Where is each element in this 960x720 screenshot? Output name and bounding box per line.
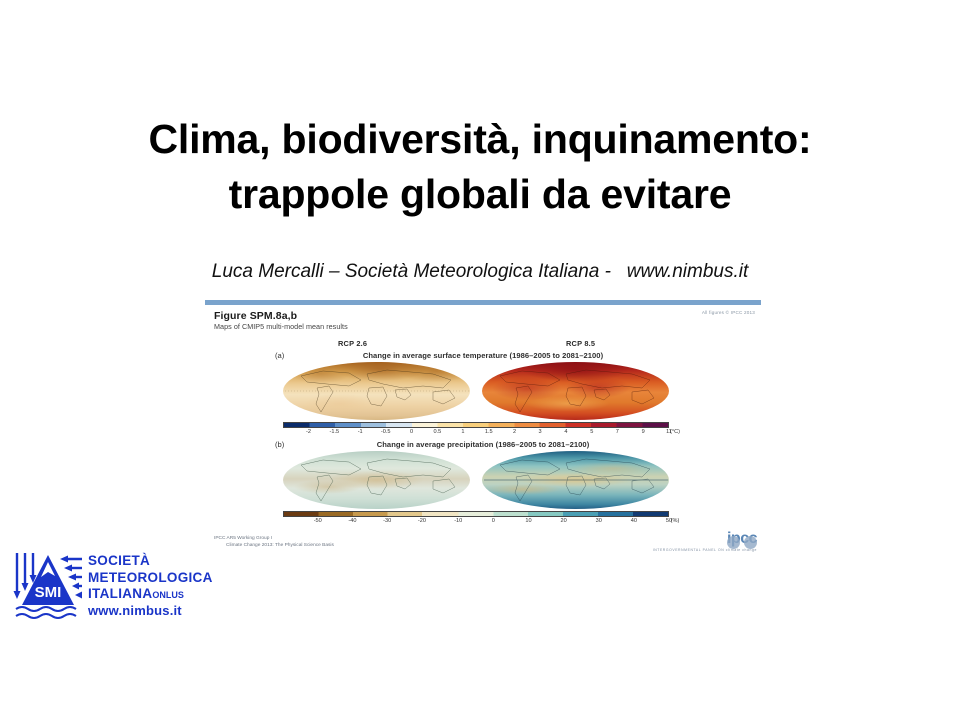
tick: 7	[616, 429, 619, 435]
tick: -40	[348, 518, 356, 524]
figure-credit: All figures © IPCC 2013	[702, 310, 755, 315]
coastline-overlay	[482, 451, 669, 509]
tick: 30	[596, 518, 602, 524]
figure-subtitle: Maps of CMIP5 multi-model mean results	[214, 322, 348, 331]
tick: 5	[590, 429, 593, 435]
tick: 0	[492, 518, 495, 524]
smi-website: www.nimbus.it	[88, 603, 213, 619]
tick: 9	[642, 429, 645, 435]
figure-source: IPCC AR5 Working Group I Climate Change …	[214, 535, 334, 549]
title-line-1: Clima, biodiversità, inquinamento:	[0, 112, 960, 167]
colorbar-temperature: -2 -1.5 -1 -0.5 0 0.5 1 1.5 2 3 4 5 7 9 …	[283, 422, 669, 437]
tick: -30	[383, 518, 391, 524]
page-subtitle: Luca Mercalli – Società Meteorologica It…	[0, 261, 960, 283]
panel-caption-a: Change in average surface temperature (1…	[205, 351, 761, 360]
tick: 1.5	[485, 429, 493, 435]
tick: 0	[410, 429, 413, 435]
tick: -10	[454, 518, 462, 524]
tick: -1.5	[330, 429, 340, 435]
tick: -2	[306, 429, 311, 435]
smi-line-1: SOCIETÀ	[88, 553, 213, 570]
map-temperature-rcp85	[482, 362, 669, 420]
smi-onlus-suffix: ONLUS	[152, 590, 184, 600]
figure-source-line-1: IPCC AR5 Working Group I	[214, 536, 272, 541]
tick: 0.5	[434, 429, 442, 435]
tick: -20	[418, 518, 426, 524]
tick: 4	[564, 429, 567, 435]
tick: 3	[539, 429, 542, 435]
map-precipitation-rcp85	[482, 451, 669, 509]
coastline-overlay	[283, 451, 470, 509]
figure-title: Figure SPM.8a,b	[214, 310, 297, 322]
tick: 2	[513, 429, 516, 435]
page-title: Clima, biodiversità, inquinamento: trapp…	[0, 112, 960, 221]
smi-line-2: METEOROLOGICA	[88, 570, 213, 587]
tick: 1	[461, 429, 464, 435]
smi-logo: SMI SOCIETÀ METEOROLOGICA ITALIANAONLUS …	[12, 547, 222, 623]
map-precipitation-rcp26	[283, 451, 470, 509]
ipcc-figure: Figure SPM.8a,b Maps of CMIP5 multi-mode…	[205, 300, 761, 562]
figure-top-bar	[205, 300, 761, 305]
figure-source-line-2: Climate Change 2013: The Physical Scienc…	[214, 542, 334, 549]
smi-line-3: ITALIANAONLUS	[88, 586, 213, 603]
coastline-overlay	[482, 362, 669, 420]
colorbar-ticks-temperature: -2 -1.5 -1 -0.5 0 0.5 1 1.5 2 3 4 5 7 9 …	[283, 428, 669, 437]
smi-mark-text: SMI	[35, 584, 62, 601]
map-temperature-rcp26	[283, 362, 470, 420]
smi-mountain-icon: SMI	[12, 547, 84, 621]
ipcc-emblems	[727, 536, 757, 549]
colorbar-unit-precipitation: (%)	[671, 518, 680, 524]
smi-logo-text: SOCIETÀ METEOROLOGICA ITALIANAONLUS www.…	[88, 553, 213, 619]
coastline-overlay	[283, 362, 470, 420]
tick: 20	[560, 518, 566, 524]
scenario-label-rcp26: RCP 2.6	[338, 339, 367, 348]
panel-caption-b: Change in average precipitation (1986–20…	[205, 440, 761, 449]
tick: 40	[631, 518, 637, 524]
smi-line-3-main: ITALIANA	[88, 586, 152, 601]
title-line-2: trappole globali da evitare	[0, 167, 960, 222]
colorbar-ticks-precipitation: -50 -40 -30 -20 -10 0 10 20 30 40 50 (%)	[283, 517, 669, 526]
tick: 10	[525, 518, 531, 524]
tick: -0.5	[381, 429, 391, 435]
tick: -1	[358, 429, 363, 435]
un-emblem-icon	[727, 536, 740, 549]
colorbar-unit-temperature: (°C)	[670, 429, 680, 435]
tick: -50	[314, 518, 322, 524]
scenario-label-rcp85: RCP 8.5	[566, 339, 595, 348]
wmo-emblem-icon	[744, 536, 757, 549]
colorbar-precipitation: -50 -40 -30 -20 -10 0 10 20 30 40 50 (%)	[283, 511, 669, 526]
